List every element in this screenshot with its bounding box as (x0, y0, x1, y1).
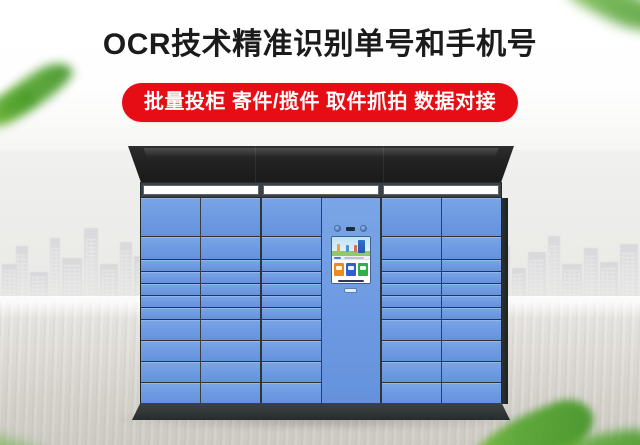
locker-door[interactable] (201, 260, 260, 272)
camera-right-icon (360, 225, 367, 232)
locker-door[interactable] (141, 237, 200, 260)
locker-door[interactable] (442, 362, 501, 383)
locker-door[interactable] (141, 362, 200, 383)
locker-column (262, 198, 322, 403)
scanner-slot-icon (346, 227, 355, 231)
locker-section-left (141, 198, 262, 403)
locker-door[interactable] (382, 308, 441, 320)
locker-door[interactable] (262, 237, 321, 260)
pickup-tile[interactable] (346, 263, 356, 276)
locker-door[interactable] (382, 362, 441, 383)
locker-door[interactable] (442, 237, 501, 260)
locker-door[interactable] (201, 341, 260, 362)
locker-door[interactable] (262, 362, 321, 383)
kiosk-sensor-row (331, 224, 371, 233)
locker-door[interactable] (141, 320, 200, 341)
screen-illustration (332, 237, 370, 256)
signage-panel (263, 185, 379, 195)
locker-door[interactable] (262, 383, 321, 403)
promo-poster: OCR技术精准识别单号和手机号 批量投柜 寄件/揽件 取件抓拍 数据对接 (0, 0, 640, 445)
locker-section-right (382, 198, 501, 403)
locker-column (382, 198, 442, 403)
locker-door[interactable] (201, 237, 260, 260)
illustration-person-icon (337, 244, 340, 252)
locker-door[interactable] (442, 308, 501, 320)
canopy-roof (128, 146, 514, 184)
locker-door[interactable] (201, 296, 260, 308)
locker-door[interactable] (141, 308, 200, 320)
locker-door[interactable] (141, 284, 200, 296)
deposit-tile[interactable] (334, 263, 344, 276)
locker-column (141, 198, 201, 403)
locker-door[interactable] (382, 284, 441, 296)
locker-door[interactable] (141, 272, 200, 284)
locker-door[interactable] (382, 237, 441, 260)
illustration-locker-icon (358, 240, 365, 253)
locker-door[interactable] (382, 383, 441, 403)
cabinet-plinth (132, 403, 510, 420)
card-reader-slot-icon (344, 288, 357, 293)
canopy-seam (383, 146, 384, 184)
locker-door[interactable] (141, 296, 200, 308)
cabinet-side-wall (502, 198, 508, 404)
locker-door[interactable] (262, 284, 321, 296)
locker-door[interactable] (262, 272, 321, 284)
screen-footer-bar (332, 279, 370, 283)
page-title: OCR技术精准识别单号和手机号 (0, 26, 640, 64)
smart-locker-cabinet (140, 146, 502, 422)
screen-notice-bar (332, 256, 370, 260)
locker-door[interactable] (382, 320, 441, 341)
locker-door[interactable] (382, 296, 441, 308)
locker-door[interactable] (442, 272, 501, 284)
signage-band (140, 182, 502, 198)
locker-door[interactable] (442, 284, 501, 296)
locker-door[interactable] (262, 198, 321, 237)
canopy-seam (255, 146, 256, 184)
locker-door[interactable] (382, 272, 441, 284)
locker-door[interactable] (141, 260, 200, 272)
kiosk-column (322, 198, 381, 403)
locker-door[interactable] (201, 383, 260, 403)
locker-door[interactable] (382, 198, 441, 237)
camera-left-icon (334, 225, 341, 232)
locker-column (442, 198, 501, 403)
locker-door[interactable] (382, 260, 441, 272)
locker-door[interactable] (262, 296, 321, 308)
top-white-wash (0, 0, 640, 150)
canopy-sheen (143, 148, 498, 157)
locker-door[interactable] (141, 383, 200, 403)
locker-door[interactable] (442, 296, 501, 308)
screen-action-tiles (332, 260, 370, 279)
locker-door[interactable] (442, 260, 501, 272)
locker-door[interactable] (262, 260, 321, 272)
locker-door[interactable] (382, 341, 441, 362)
locker-door[interactable] (442, 198, 501, 237)
signage-panel (143, 185, 259, 195)
locker-door[interactable] (141, 198, 200, 237)
kiosk-touchscreen[interactable] (331, 236, 371, 284)
signage-panel (383, 185, 499, 195)
locker-door[interactable] (442, 320, 501, 341)
locker-door[interactable] (201, 284, 260, 296)
kiosk-terminal[interactable] (331, 224, 371, 293)
locker-section-middle (262, 198, 383, 403)
illustration-person-icon (346, 245, 349, 252)
locker-door[interactable] (201, 272, 260, 284)
locker-door[interactable] (201, 362, 260, 383)
locker-door[interactable] (201, 320, 260, 341)
locker-column (201, 198, 260, 403)
locker-door[interactable] (262, 320, 321, 341)
locker-door[interactable] (201, 198, 260, 237)
locker-door[interactable] (262, 308, 321, 320)
locker-door[interactable] (201, 308, 260, 320)
feature-banner: 批量投柜 寄件/揽件 取件抓拍 数据对接 (122, 83, 518, 122)
locker-door[interactable] (442, 383, 501, 403)
admin-tile[interactable] (358, 263, 368, 276)
cabinet-body (140, 198, 502, 404)
locker-door[interactable] (141, 341, 200, 362)
locker-door[interactable] (442, 341, 501, 362)
feature-banner-wrap: 批量投柜 寄件/揽件 取件抓拍 数据对接 (0, 83, 640, 122)
locker-door[interactable] (262, 341, 321, 362)
illustration-person-icon (354, 245, 357, 252)
